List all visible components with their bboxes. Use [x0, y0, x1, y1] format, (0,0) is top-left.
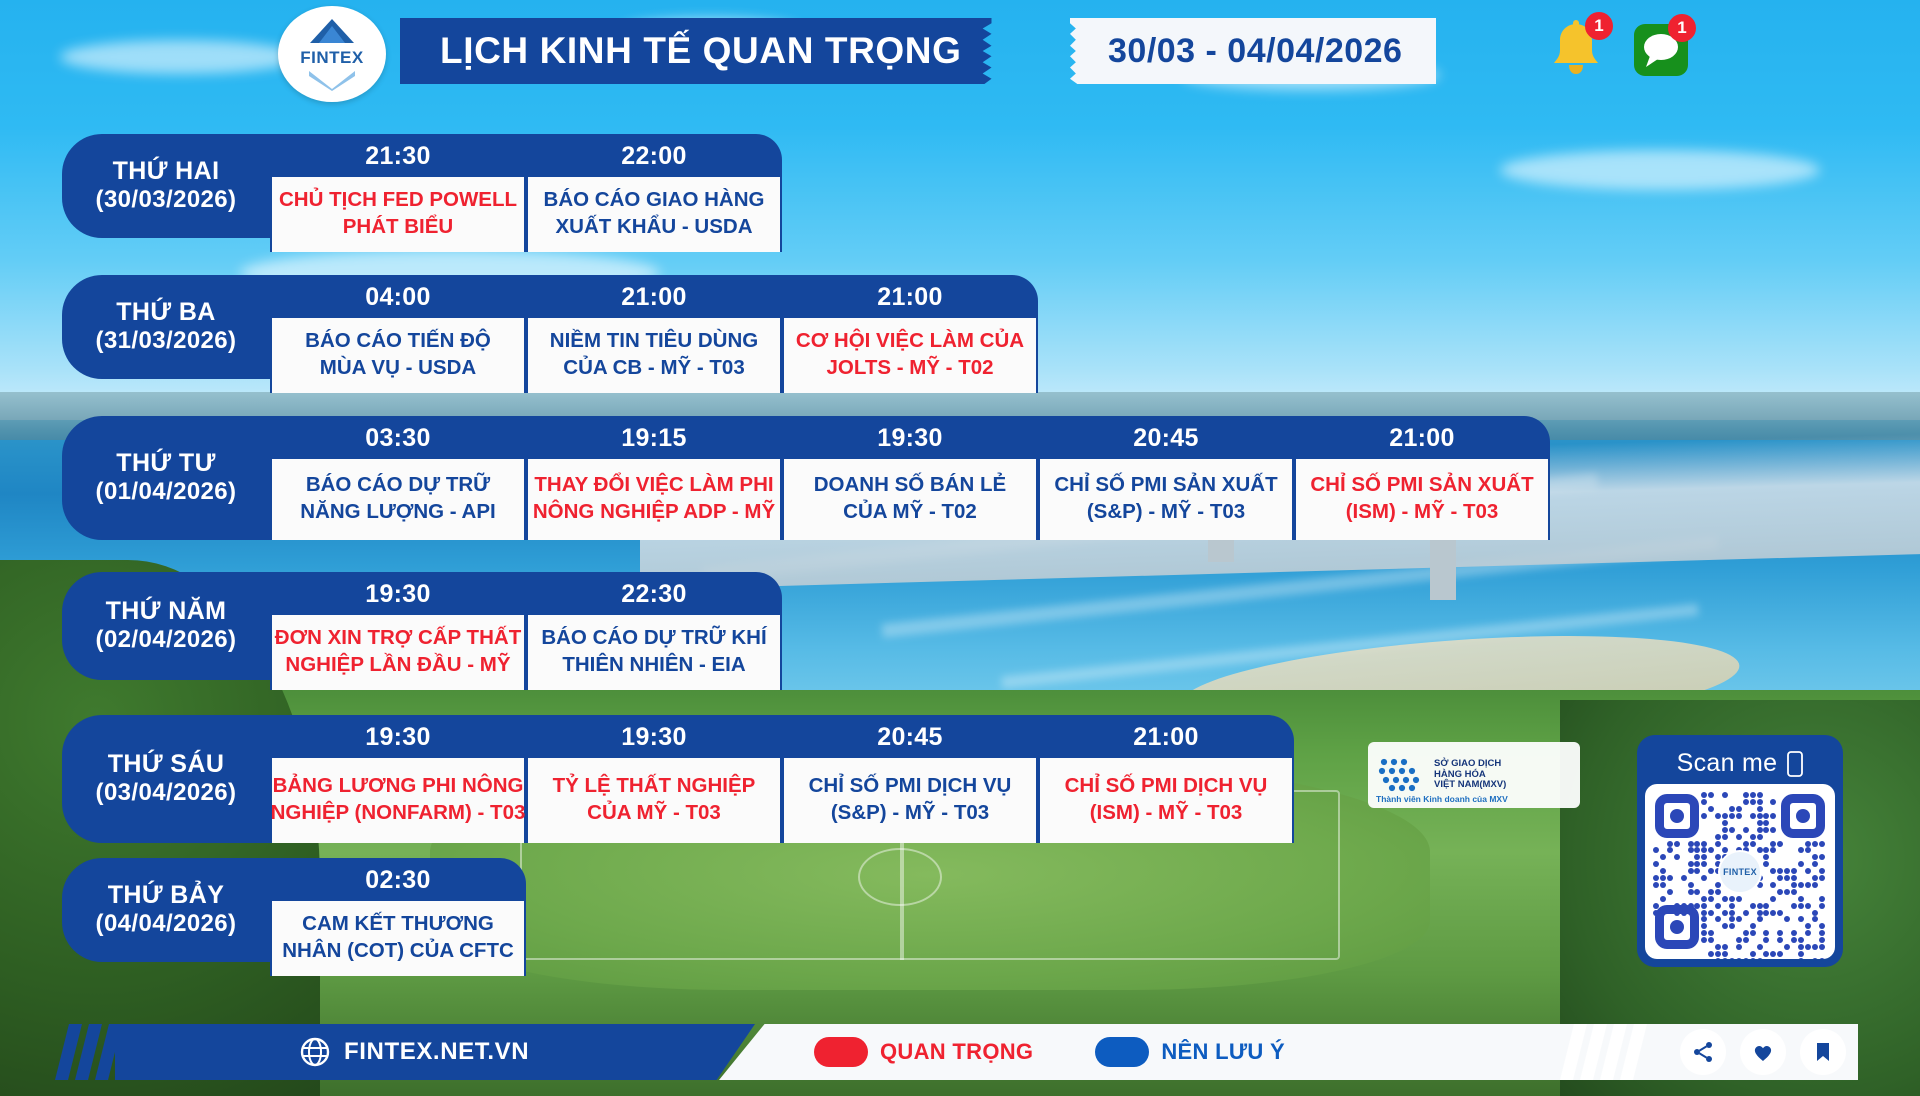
qr-finder-pattern	[1655, 905, 1699, 949]
day-row: THỨ SÁU(03/04/2026)19:30BẢNG LƯƠNG PHI N…	[62, 715, 1294, 843]
event-card[interactable]: 21:00CHỈ SỐ PMI SẢN XUẤT(ISM) - MỸ - T03	[1294, 416, 1550, 540]
legend-label-important: QUAN TRỌNG	[880, 1039, 1033, 1065]
event-title-line: NGHIỆP LẦN ĐẦU - MỸ	[285, 651, 510, 678]
day-date: (04/04/2026)	[96, 909, 237, 939]
like-button[interactable]	[1740, 1029, 1786, 1075]
day-date: (03/04/2026)	[96, 778, 237, 808]
event-title-line: (ISM) - MỸ - T03	[1090, 799, 1243, 826]
event-time: 19:30	[782, 416, 1038, 459]
messages-button[interactable]: 1	[1632, 20, 1690, 80]
event-title-line: BÁO CÁO DỰ TRỮ	[306, 471, 490, 498]
day-events: 19:30BẢNG LƯƠNG PHI NÔNGNGHIỆP (NONFARM)…	[270, 715, 1294, 843]
event-title-line: CHỦ TỊCH FED POWELL	[279, 186, 517, 213]
event-title-line: CỦA MỸ - T02	[843, 498, 977, 525]
event-title-line: CỦA CB - MỸ - T03	[563, 354, 744, 381]
event-card[interactable]: 19:30DOANH SỐ BÁN LẺCỦA MỸ - T02	[782, 416, 1038, 540]
event-card[interactable]: 20:45CHỈ SỐ PMI SẢN XUẤT(S&P) - MỸ - T03	[1038, 416, 1294, 540]
event-title-line: BẢNG LƯƠNG PHI NÔNG	[273, 772, 524, 799]
event-time: 02:30	[270, 858, 526, 901]
event-title-line: (S&P) - MỸ - T03	[1087, 498, 1245, 525]
day-label: THỨ BA(31/03/2026)	[62, 275, 270, 379]
bookmark-icon	[1811, 1040, 1835, 1064]
qr-title-text: Scan me	[1677, 749, 1778, 778]
header: FINTEX LỊCH KINH TẾ QUAN TRỌNG 30/03 - 0…	[0, 0, 1920, 100]
website-bar[interactable]: FINTEX.NET.VN	[115, 1024, 755, 1080]
day-events: 21:30CHỦ TỊCH FED POWELLPHÁT BIỂU22:00BÁ…	[270, 134, 782, 238]
notifications-button[interactable]: 1	[1545, 18, 1607, 82]
event-card[interactable]: 02:30CAM KẾT THƯƠNGNHÂN (COT) CỦA CFTC	[270, 858, 526, 962]
event-time: 19:30	[270, 715, 526, 758]
day-label: THỨ NĂM(02/04/2026)	[62, 572, 270, 680]
event-time: 20:45	[1038, 416, 1294, 459]
event-title-line: BÁO CÁO GIAO HÀNG	[544, 186, 765, 213]
event-title: BÁO CÁO GIAO HÀNGXUẤT KHẨU - USDA	[526, 177, 782, 252]
event-title: CHỦ TỊCH FED POWELLPHÁT BIỂU	[270, 177, 526, 252]
event-title: BÁO CÁO DỰ TRỮNĂNG LƯỢNG - API	[270, 459, 526, 540]
event-title-line: PHÁT BIỂU	[343, 213, 453, 240]
day-label: THỨ TƯ(01/04/2026)	[62, 416, 270, 540]
day-events: 04:00BÁO CÁO TIẾN ĐỘMÙA VỤ - USDA21:00NI…	[270, 275, 1038, 379]
event-time: 21:00	[1038, 715, 1294, 758]
day-label: THỨ BẢY(04/04/2026)	[62, 858, 270, 962]
qr-center-logo: FINTEX	[1718, 850, 1762, 894]
day-date: (01/04/2026)	[96, 477, 237, 507]
event-title-line: MÙA VỤ - USDA	[320, 354, 476, 381]
logo-arrow-icon	[304, 17, 360, 47]
event-title: CHỈ SỐ PMI SẢN XUẤT(ISM) - MỸ - T03	[1294, 459, 1550, 540]
day-name: THỨ NĂM	[106, 597, 227, 626]
event-title: ĐƠN XIN TRỢ CẤP THẤTNGHIỆP LẦN ĐẦU - MỸ	[270, 615, 526, 690]
day-label: THỨ HAI(30/03/2026)	[62, 134, 270, 238]
social-buttons	[1658, 1029, 1858, 1075]
event-time: 04:00	[270, 275, 526, 318]
day-row: THỨ BA(31/03/2026)04:00BÁO CÁO TIẾN ĐỘMÙ…	[62, 275, 1038, 379]
event-title: BÁO CÁO TIẾN ĐỘMÙA VỤ - USDA	[270, 318, 526, 393]
event-card[interactable]: 22:00BÁO CÁO GIAO HÀNGXUẤT KHẨU - USDA	[526, 134, 782, 238]
mxv-member-logo: SỞ GIAO DỊCH HÀNG HÓA VIỆT NAM(MXV) Thàn…	[1368, 742, 1580, 808]
event-card[interactable]: 21:00CƠ HỘI VIỆC LÀM CỦAJOLTS - MỸ - T02	[782, 275, 1038, 379]
day-date: (31/03/2026)	[96, 326, 237, 356]
legend-chip-note	[1095, 1037, 1149, 1067]
globe-icon	[300, 1037, 330, 1067]
event-title-line: THAY ĐỔI VIỆC LÀM PHI	[534, 471, 773, 498]
event-title-line: CƠ HỘI VIỆC LÀM CỦA	[796, 327, 1024, 354]
fintex-logo[interactable]: FINTEX	[278, 6, 386, 102]
event-title-line: CHỈ SỐ PMI SẢN XUẤT	[1054, 471, 1277, 498]
page-title-text: LỊCH KINH TẾ QUAN TRỌNG	[440, 30, 962, 72]
event-title-line: NIỀM TIN TIÊU DÙNG	[550, 327, 758, 354]
event-title-line: CHỈ SỐ PMI DỊCH VỤ	[809, 772, 1012, 799]
event-time: 19:30	[526, 715, 782, 758]
date-range-plate: 30/03 - 04/04/2026	[1070, 18, 1436, 84]
event-title: THAY ĐỔI VIỆC LÀM PHINÔNG NGHIỆP ADP - M…	[526, 459, 782, 540]
event-title-line: XUẤT KHẨU - USDA	[555, 213, 752, 240]
event-time: 20:45	[782, 715, 1038, 758]
event-title: NIỀM TIN TIÊU DÙNGCỦA CB - MỸ - T03	[526, 318, 782, 393]
event-title: TỶ LỆ THẤT NGHIỆPCỦA MỸ - T03	[526, 758, 782, 843]
legend-chip-important	[814, 1037, 868, 1067]
event-card[interactable]: 22:30BÁO CÁO DỰ TRỮ KHÍTHIÊN NHIÊN - EIA	[526, 572, 782, 680]
day-events: 03:30BÁO CÁO DỰ TRỮNĂNG LƯỢNG - API19:15…	[270, 416, 1550, 540]
event-title: CƠ HỘI VIỆC LÀM CỦAJOLTS - MỸ - T02	[782, 318, 1038, 393]
legend-label-note: NÊN LƯU Ý	[1161, 1039, 1285, 1065]
website-text: FINTEX.NET.VN	[344, 1038, 529, 1066]
footer-stripes-left	[62, 1024, 115, 1080]
event-title-line: BÁO CÁO DỰ TRỮ KHÍ	[541, 624, 766, 651]
day-events: 19:30ĐƠN XIN TRỢ CẤP THẤTNGHIỆP LẦN ĐẦU …	[270, 572, 782, 680]
logo-wordmark: FINTEX	[300, 48, 363, 68]
day-events: 02:30CAM KẾT THƯƠNGNHÂN (COT) CỦA CFTC	[270, 858, 526, 962]
mobile-phone-icon	[1787, 751, 1803, 777]
event-title-line: CỦA MỸ - T03	[587, 799, 721, 826]
chat-badge: 1	[1668, 14, 1696, 42]
day-name: THỨ SÁU	[108, 750, 225, 779]
heart-icon	[1751, 1040, 1775, 1064]
event-title-line: ĐƠN XIN TRỢ CẤP THẤT	[275, 624, 521, 651]
day-label: THỨ SÁU(03/04/2026)	[62, 715, 270, 843]
qr-code-panel[interactable]: Scan me FINTEX	[1637, 735, 1843, 967]
share-button[interactable]	[1680, 1029, 1726, 1075]
event-title-line: NÔNG NGHIỆP ADP - MỸ	[533, 498, 775, 525]
event-title-line: BÁO CÁO TIẾN ĐỘ	[305, 327, 491, 354]
event-card[interactable]: 21:00NIỀM TIN TIÊU DÙNGCỦA CB - MỸ - T03	[526, 275, 782, 379]
event-title: CAM KẾT THƯƠNGNHÂN (COT) CỦA CFTC	[270, 901, 526, 976]
event-title: CHỈ SỐ PMI DỊCH VỤ(S&P) - MỸ - T03	[782, 758, 1038, 843]
day-name: THỨ HAI	[113, 157, 220, 186]
day-name: THỨ BẢY	[108, 881, 225, 910]
share-icon	[1691, 1040, 1715, 1064]
day-row: THỨ NĂM(02/04/2026)19:30ĐƠN XIN TRỢ CẤP …	[62, 572, 782, 680]
event-card[interactable]: 04:00BÁO CÁO TIẾN ĐỘMÙA VỤ - USDA	[270, 275, 526, 379]
event-title-line: NGHIỆP (NONFARM) - T03	[271, 799, 526, 826]
event-title: CHỈ SỐ PMI DỊCH VỤ(ISM) - MỸ - T03	[1038, 758, 1294, 843]
event-title-line: (ISM) - MỸ - T03	[1346, 498, 1499, 525]
day-name: THỨ TƯ	[116, 449, 215, 478]
mxv-logo-icon	[1376, 754, 1428, 796]
legend-bar: QUAN TRỌNG NÊN LƯU Ý	[719, 1024, 1858, 1080]
qr-finder-pattern	[1781, 794, 1825, 838]
mxv-line-3: VIỆT NAM(MXV)	[1434, 780, 1506, 791]
day-date: (30/03/2026)	[96, 185, 237, 215]
event-card[interactable]: 03:30BÁO CÁO DỰ TRỮNĂNG LƯỢNG - API	[270, 416, 526, 540]
event-time: 21:30	[270, 134, 526, 177]
event-title-line: NĂNG LƯỢNG - API	[300, 498, 495, 525]
event-time: 03:30	[270, 416, 526, 459]
event-title-line: CHỈ SỐ PMI DỊCH VỤ	[1065, 772, 1268, 799]
day-row: THỨ BẢY(04/04/2026)02:30CAM KẾT THƯƠNGNH…	[62, 858, 526, 962]
event-card[interactable]: 21:30CHỦ TỊCH FED POWELLPHÁT BIỂU	[270, 134, 526, 238]
day-row: THỨ HAI(30/03/2026)21:30CHỦ TỊCH FED POW…	[62, 134, 782, 238]
qr-code-image: FINTEX	[1645, 784, 1835, 959]
event-title: BÁO CÁO DỰ TRỮ KHÍTHIÊN NHIÊN - EIA	[526, 615, 782, 690]
legend-item-note: NÊN LƯU Ý	[1095, 1037, 1285, 1067]
footer-stripes-right	[1567, 1024, 1640, 1080]
event-time: 21:00	[526, 275, 782, 318]
day-name: THỨ BA	[116, 298, 216, 327]
event-title-line: CHỈ SỐ PMI SẢN XUẤT	[1310, 471, 1533, 498]
event-card[interactable]: 19:30ĐƠN XIN TRỢ CẤP THẤTNGHIỆP LẦN ĐẦU …	[270, 572, 526, 680]
event-time: 19:15	[526, 416, 782, 459]
footer: FINTEX.NET.VN QUAN TRỌNG NÊN LƯU Ý	[62, 1024, 1858, 1080]
day-row: THỨ TƯ(01/04/2026)03:30BÁO CÁO DỰ TRỮNĂN…	[62, 416, 1550, 540]
event-time: 21:00	[782, 275, 1038, 318]
date-range-text: 30/03 - 04/04/2026	[1108, 32, 1402, 71]
mxv-member-text: Thành viên Kinh doanh của MXV	[1376, 794, 1508, 804]
event-card[interactable]: 19:30BẢNG LƯƠNG PHI NÔNGNGHIỆP (NONFARM)…	[270, 715, 526, 843]
bell-badge: 1	[1585, 12, 1613, 40]
qr-title: Scan me	[1677, 743, 1804, 784]
day-date: (02/04/2026)	[96, 625, 237, 655]
page-title: LỊCH KINH TẾ QUAN TRỌNG	[400, 18, 992, 84]
event-title-line: JOLTS - MỸ - T02	[826, 354, 993, 381]
logo-chevron-icon	[307, 69, 357, 91]
event-card[interactable]: 19:30TỶ LỆ THẤT NGHIỆPCỦA MỸ - T03	[526, 715, 782, 843]
event-title: DOANH SỐ BÁN LẺCỦA MỸ - T02	[782, 459, 1038, 540]
event-title: CHỈ SỐ PMI SẢN XUẤT(S&P) - MỸ - T03	[1038, 459, 1294, 540]
qr-finder-pattern	[1655, 794, 1699, 838]
event-title-line: CAM KẾT THƯƠNG	[302, 910, 494, 937]
event-title: BẢNG LƯƠNG PHI NÔNGNGHIỆP (NONFARM) - T0…	[270, 758, 526, 843]
event-time: 22:00	[526, 134, 782, 177]
event-time: 19:30	[270, 572, 526, 615]
event-time: 22:30	[526, 572, 782, 615]
event-card[interactable]: 21:00CHỈ SỐ PMI DỊCH VỤ(ISM) - MỸ - T03	[1038, 715, 1294, 843]
event-title-line: NHÂN (COT) CỦA CFTC	[282, 937, 514, 964]
event-title-line: THIÊN NHIÊN - EIA	[562, 651, 745, 678]
bookmark-button[interactable]	[1800, 1029, 1846, 1075]
event-card[interactable]: 19:15THAY ĐỔI VIỆC LÀM PHINÔNG NGHIỆP AD…	[526, 416, 782, 540]
event-title-line: (S&P) - MỸ - T03	[831, 799, 989, 826]
event-title-line: TỶ LỆ THẤT NGHIỆP	[553, 772, 756, 799]
event-title-line: DOANH SỐ BÁN LẺ	[814, 471, 1006, 498]
event-time: 21:00	[1294, 416, 1550, 459]
legend-item-important: QUAN TRỌNG	[814, 1037, 1033, 1067]
event-card[interactable]: 20:45CHỈ SỐ PMI DỊCH VỤ(S&P) - MỸ - T03	[782, 715, 1038, 843]
